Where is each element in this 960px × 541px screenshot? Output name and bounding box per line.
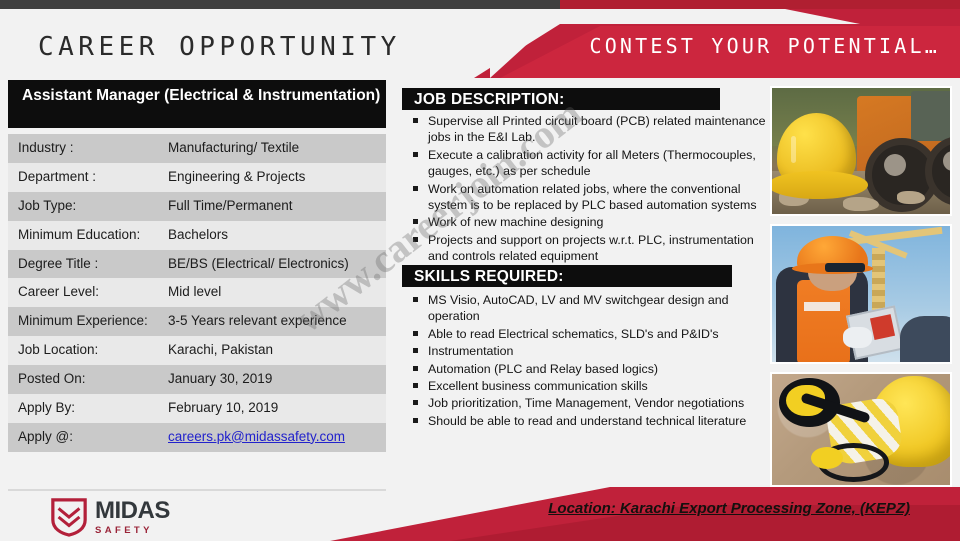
top-dark-strip: [0, 0, 560, 9]
shield-icon: [50, 497, 88, 537]
skills-required-item: Excellent business communication skills: [406, 378, 776, 394]
footer-divider: [8, 489, 386, 491]
table-row: Career Level:Mid level: [8, 278, 386, 307]
skills-required-list: MS Visio, AutoCAD, LV and MV switchgear …: [406, 292, 776, 430]
job-description-heading: JOB DESCRIPTION:: [402, 88, 720, 110]
detail-key: Minimum Experience:: [8, 307, 160, 336]
skills-required-item: Able to read Electrical schematics, SLD'…: [406, 326, 776, 342]
skills-required-item: Instrumentation: [406, 343, 776, 359]
job-advertisement-poster: CAREER OPPORTUNITY CONTEST YOUR POTENTIA…: [0, 0, 960, 541]
skills-required-item: MS Visio, AutoCAD, LV and MV switchgear …: [406, 292, 776, 325]
detail-value: Bachelors: [160, 221, 386, 250]
skills-required-item: Job prioritization, Time Management, Ven…: [406, 395, 776, 411]
job-description-list: Supervise all Printed circuit board (PCB…: [406, 113, 776, 265]
job-title: Assistant Manager (Electrical & Instrume…: [8, 80, 386, 128]
detail-key: Industry :: [8, 134, 160, 163]
skills-required-item: Should be able to read and understand te…: [406, 413, 776, 429]
detail-key: Apply @:: [8, 423, 160, 452]
detail-key: Job Location:: [8, 336, 160, 365]
detail-key: Apply By:: [8, 394, 160, 423]
detail-key: Posted On:: [8, 365, 160, 394]
detail-value: Mid level: [160, 278, 386, 307]
detail-key: Job Type:: [8, 192, 160, 221]
table-row: Apply @:careers.pk@midassafety.com: [8, 423, 386, 452]
job-description-item: Projects and support on projects w.r.t. …: [406, 232, 776, 265]
detail-value: BE/BS (Electrical/ Electronics): [160, 250, 386, 279]
footer-location-text: Location: Karachi Export Processing Zone…: [548, 500, 910, 517]
table-row: Minimum Experience:3-5 Years relevant ex…: [8, 307, 386, 336]
table-row: Degree Title :BE/BS (Electrical/ Electro…: [8, 250, 386, 279]
table-row: Department :Engineering & Projects: [8, 163, 386, 192]
job-description-item: Work of new machine designing: [406, 214, 776, 230]
apply-email-link[interactable]: careers.pk@midassafety.com: [168, 429, 345, 444]
logo-wordmark: MIDAS: [95, 499, 170, 523]
detail-key: Degree Title :: [8, 250, 160, 279]
logo-subtext: SAFETY: [95, 526, 170, 536]
skills-required-heading: SKILLS REQUIRED:: [402, 265, 732, 287]
header-tagline: CONTEST YOUR POTENTIAL…: [589, 34, 940, 58]
detail-key: Minimum Education:: [8, 221, 160, 250]
detail-value: Manufacturing/ Textile: [160, 134, 386, 163]
photo-engineer-crane: [770, 224, 952, 364]
detail-key: Department :: [8, 163, 160, 192]
page-title: CAREER OPPORTUNITY: [38, 32, 401, 62]
table-row: Minimum Education:Bachelors: [8, 221, 386, 250]
midas-safety-logo: MIDAS SAFETY: [50, 497, 170, 537]
detail-value: January 30, 2019: [160, 365, 386, 394]
detail-key: Career Level:: [8, 278, 160, 307]
job-description-item: Execute a calibration activity for all M…: [406, 147, 776, 180]
detail-value: Engineering & Projects: [160, 163, 386, 192]
detail-value: 3-5 Years relevant experience: [160, 307, 386, 336]
skills-required-item: Automation (PLC and Relay based logics): [406, 361, 776, 377]
job-details-table: Industry :Manufacturing/ TextileDepartme…: [8, 134, 386, 452]
detail-value: February 10, 2019: [160, 394, 386, 423]
detail-value: careers.pk@midassafety.com: [160, 423, 386, 452]
table-row: Job Type:Full Time/Permanent: [8, 192, 386, 221]
table-row: Job Location:Karachi, Pakistan: [8, 336, 386, 365]
photo-ppe-equipment: [770, 372, 952, 487]
detail-value: Karachi, Pakistan: [160, 336, 386, 365]
photo-hard-hat-loader: [770, 86, 952, 216]
table-row: Posted On:January 30, 2019: [8, 365, 386, 394]
table-row: Apply By:February 10, 2019: [8, 394, 386, 423]
job-description-item: Work on automation related jobs, where t…: [406, 181, 776, 214]
job-description-item: Supervise all Printed circuit board (PCB…: [406, 113, 776, 146]
table-row: Industry :Manufacturing/ Textile: [8, 134, 386, 163]
detail-value: Full Time/Permanent: [160, 192, 386, 221]
